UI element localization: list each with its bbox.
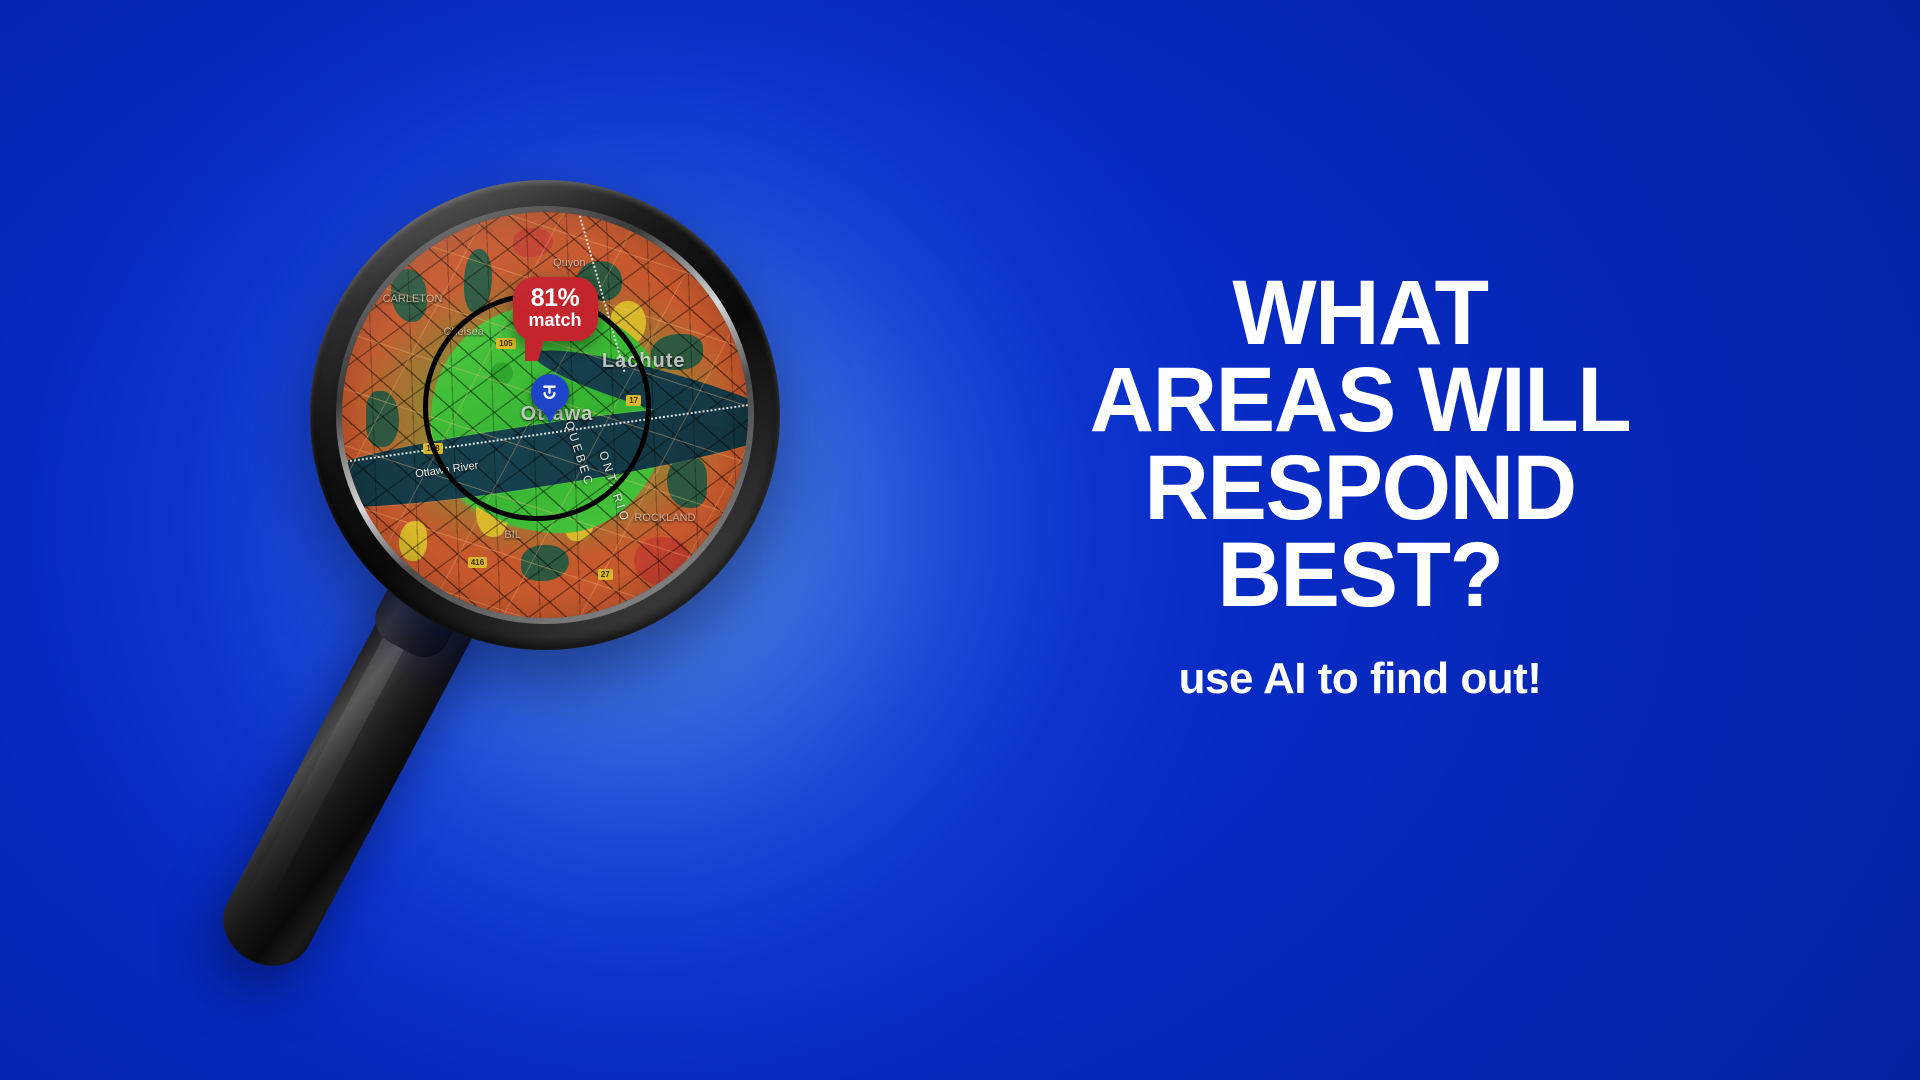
marketing-copy: WHAT AREAS WILL RESPOND BEST? use AI to … [960,270,1760,704]
match-score-badge: 81% match [513,277,598,341]
headline-line-3: RESPOND [972,445,1748,532]
magnifying-glass-graphic: Quyon Chelsea Lachute Ottawa Ottawa Rive… [150,150,870,980]
match-percent: 81% [529,286,582,312]
headline-line-4: BEST? [972,532,1748,619]
map-label: Quyon [553,257,585,269]
headline-line-1: WHAT [972,270,1748,357]
map-label: CARLETON [383,293,443,305]
page-title: WHAT AREAS WILL RESPOND BEST? [972,270,1748,620]
match-label: match [529,311,582,330]
map-route-shield: 416 [468,557,487,568]
map-label: BIL [504,529,521,541]
map-route-shield: 27 [598,569,613,580]
magnifier-lens-assembly: Quyon Chelsea Lachute Ottawa Ottawa Rive… [310,180,780,650]
subtitle: use AI to find out! [960,654,1760,704]
map-label: ROCKLAND [634,512,695,524]
headline-line-2: AREAS WILL [972,357,1748,444]
magnifier-lens: Quyon Chelsea Lachute Ottawa Ottawa Rive… [342,212,748,618]
map-pin-anchor-icon [531,374,569,412]
